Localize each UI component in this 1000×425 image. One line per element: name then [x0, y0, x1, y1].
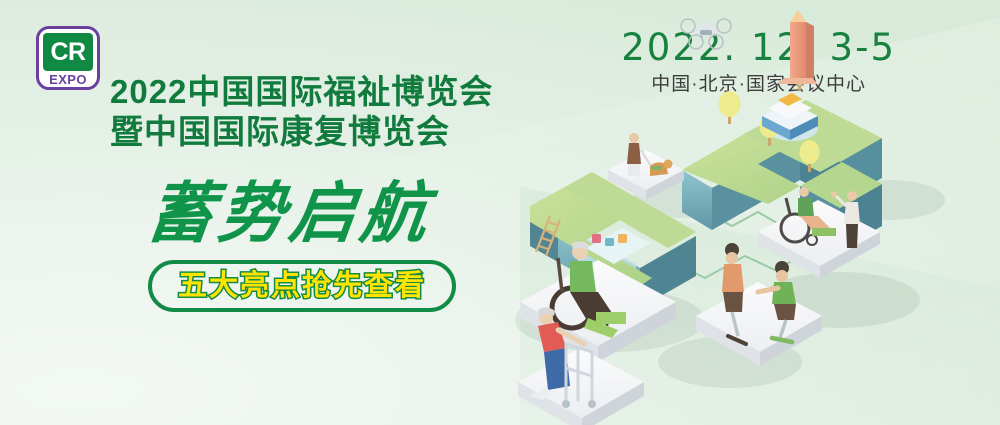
obelisk-tower-icon [778, 10, 818, 84]
highlights-badge-label: 五大亮点抢先查看 [178, 272, 426, 301]
drone-icon [681, 19, 731, 49]
expo-banner: CR EXPO 2022中国国际福祉博览会 暨中国国际康复博览会 蓄势启航 五大… [0, 0, 1000, 425]
headline-line-2: 暨中国国际康复博览会 [110, 112, 493, 152]
slogan-text: 蓄势启航 [144, 178, 437, 248]
headline-block: 2022中国国际福祉博览会 暨中国国际康复博览会 [110, 72, 493, 152]
logo-sub-text: EXPO [43, 72, 93, 88]
isometric-illustration [500, 0, 1000, 425]
cr-expo-logo[interactable]: CR EXPO [36, 26, 100, 90]
logo-mark-text: CR [50, 40, 85, 65]
highlights-badge[interactable]: 五大亮点抢先查看 [148, 260, 456, 312]
platform-walker [518, 348, 644, 425]
logo-mark-box: CR [43, 33, 93, 71]
headline-line-1: 2022中国国际福祉博览会 [110, 72, 493, 112]
